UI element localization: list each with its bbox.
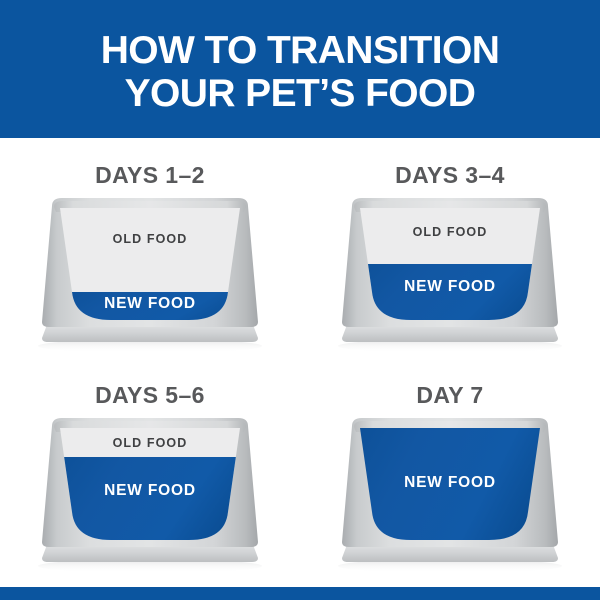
bowl-days-1-2: OLD FOOD NEW FOOD bbox=[22, 196, 278, 356]
bowl-day-7: NEW FOOD bbox=[322, 416, 578, 576]
bowl-graphic bbox=[22, 416, 278, 576]
infographic-root: HOW TO TRANSITION YOUR PET’S FOOD DAYS 1… bbox=[0, 0, 600, 600]
header-banner: HOW TO TRANSITION YOUR PET’S FOOD bbox=[0, 0, 600, 138]
header-title-line-2: YOUR PET’S FOOD bbox=[125, 72, 476, 115]
footer-bar bbox=[0, 587, 600, 600]
panel-day-7: DAY 7 NEW FOOD bbox=[300, 358, 600, 582]
bowl-graphic bbox=[322, 416, 578, 576]
panel-title-days-5-6: DAYS 5–6 bbox=[0, 382, 300, 409]
bowl-graphic bbox=[322, 196, 578, 356]
panel-title-days-3-4: DAYS 3–4 bbox=[300, 162, 600, 189]
panel-days-3-4: DAYS 3–4 OLD bbox=[300, 138, 600, 362]
panel-days-1-2: DAYS 1–2 bbox=[0, 138, 300, 362]
panel-title-days-1-2: DAYS 1–2 bbox=[0, 162, 300, 189]
panel-days-5-6: DAYS 5–6 OLD bbox=[0, 358, 300, 582]
panel-grid: DAYS 1–2 bbox=[0, 138, 600, 587]
header-title-line-1: HOW TO TRANSITION bbox=[101, 29, 500, 72]
bowl-days-5-6: OLD FOOD NEW FOOD bbox=[22, 416, 278, 576]
bowl-days-3-4: OLD FOOD NEW FOOD bbox=[322, 196, 578, 356]
panel-title-day-7: DAY 7 bbox=[300, 382, 600, 409]
bowl-graphic bbox=[22, 196, 278, 356]
